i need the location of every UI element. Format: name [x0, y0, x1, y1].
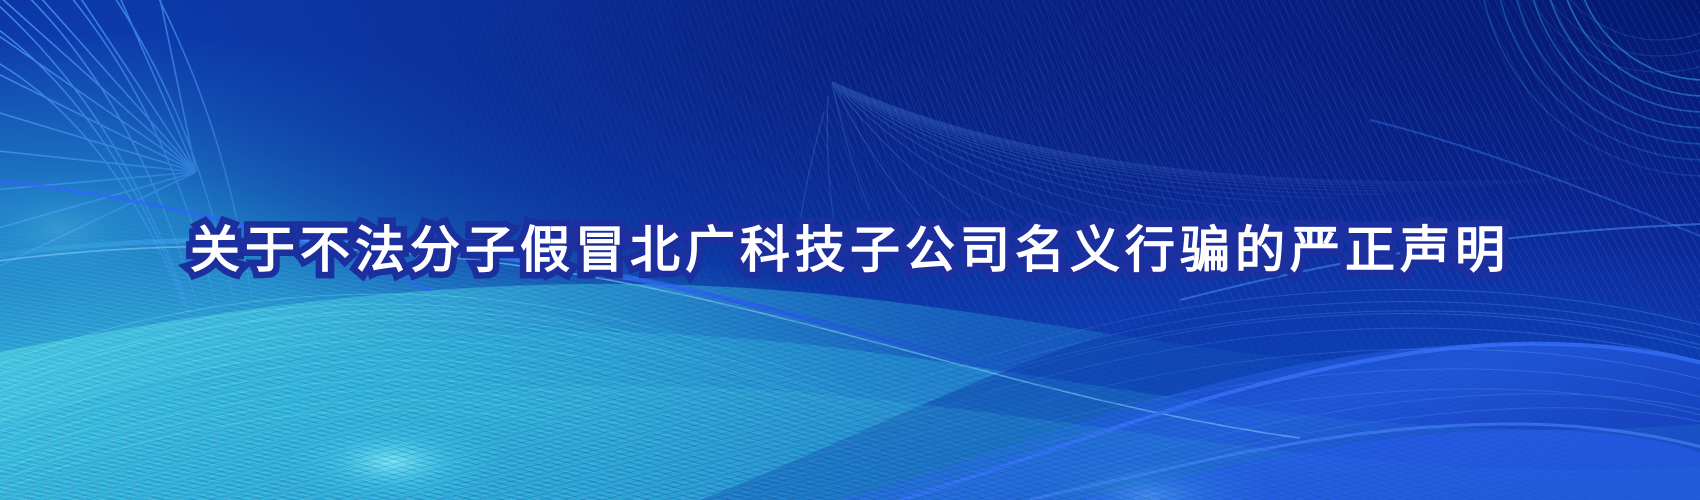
banner-title-container: 关于不法分子假冒北广科技子公司名义行骗的严正声明: [0, 206, 1700, 294]
concentric-arcs-top-right: [1478, 0, 1700, 176]
wave-ribbon-group: [0, 284, 1700, 500]
page-title: 关于不法分子假冒北广科技子公司名义行骗的严正声明: [190, 225, 1510, 275]
banner-root: 关于不法分子假冒北广科技子公司名义行骗的严正声明: [0, 0, 1700, 500]
